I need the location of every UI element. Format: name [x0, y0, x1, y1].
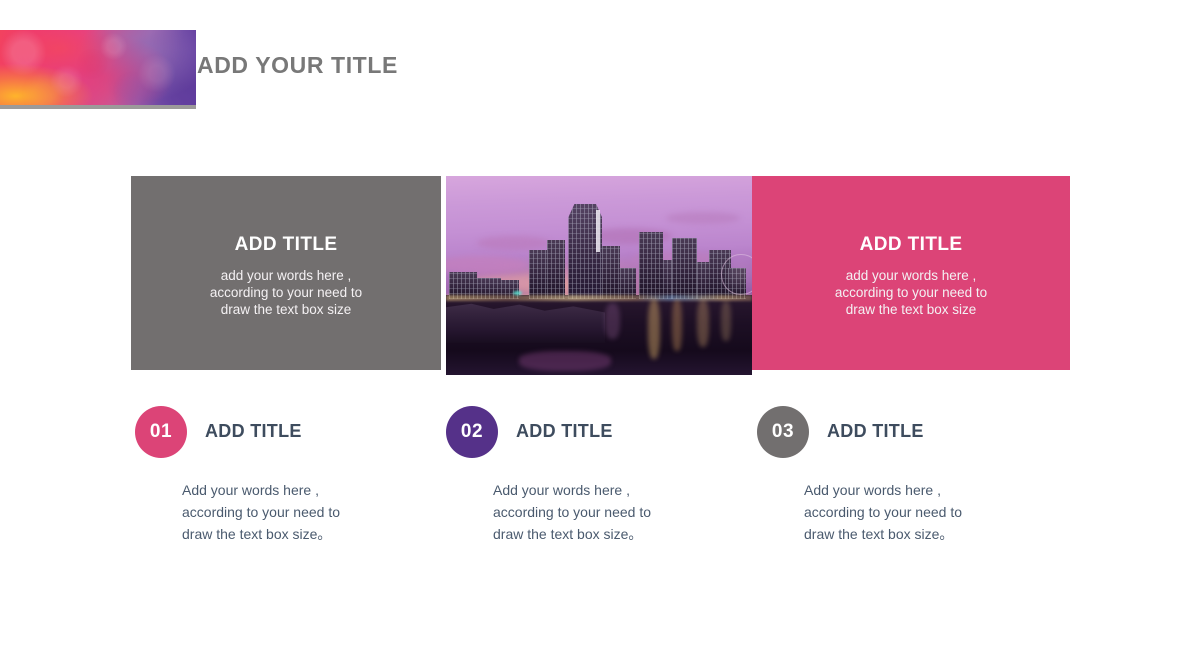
list-item-01[interactable]: 01 ADD TITLE Add your words here , accor…	[135, 406, 465, 545]
building	[672, 238, 696, 300]
gray-panel-title: ADD TITLE	[235, 234, 338, 256]
gray-content-panel[interactable]: ADD TITLE add your words here , acсordin…	[131, 176, 441, 370]
item-header: 02 ADD TITLE	[446, 406, 776, 462]
building	[529, 250, 547, 300]
building	[663, 260, 672, 300]
pink-content-panel[interactable]: ADD TITLE add your words here , accordin…	[752, 176, 1070, 370]
pink-panel-body: add your words here , according to your …	[835, 267, 987, 318]
tower-highlight	[596, 210, 600, 252]
watercolor-ribbon-banner-icon	[0, 30, 196, 105]
item-title-01: ADD TITLE	[205, 421, 302, 442]
page-title: ADD YOUR TITLE	[197, 52, 398, 79]
item-body-03: Add your words here , according to your …	[804, 479, 1087, 545]
item-title-03: ADD TITLE	[827, 421, 924, 442]
ferris-wheel	[721, 254, 752, 296]
water-reflection	[697, 299, 709, 347]
item-header: 01 ADD TITLE	[135, 406, 465, 462]
water-reflection	[648, 299, 660, 359]
building	[547, 240, 565, 300]
gray-panel-body: add your words here , acсording to your …	[210, 267, 362, 318]
building	[602, 246, 620, 300]
slide-canvas: ADD YOUR TITLE ADD TITLE add your words …	[0, 0, 1192, 667]
city-skyline-at-dusk-photo[interactable]	[446, 176, 752, 375]
ribbon-texture	[0, 30, 196, 105]
number-badge-01: 01	[135, 406, 187, 458]
pink-panel-title: ADD TITLE	[860, 234, 963, 256]
water-reflection	[721, 301, 730, 341]
header-ribbon	[0, 30, 196, 108]
list-item-03[interactable]: 03 ADD TITLE Add your words here , accor…	[757, 406, 1087, 545]
water-reflection	[519, 351, 611, 371]
item-body-01: Add your words here , according to your …	[182, 479, 465, 545]
number-badge-03: 03	[757, 406, 809, 458]
list-item-02[interactable]: 02 ADD TITLE Add your words here , accor…	[446, 406, 776, 545]
item-title-02: ADD TITLE	[516, 421, 613, 442]
slide-header: ADD YOUR TITLE	[0, 30, 600, 120]
item-body-02: Add your words here , according to your …	[493, 479, 776, 545]
number-badge-02: 02	[446, 406, 498, 458]
water-reflection	[605, 303, 620, 339]
water-reflection	[672, 299, 681, 351]
item-header: 03 ADD TITLE	[757, 406, 1087, 462]
building	[639, 232, 663, 300]
